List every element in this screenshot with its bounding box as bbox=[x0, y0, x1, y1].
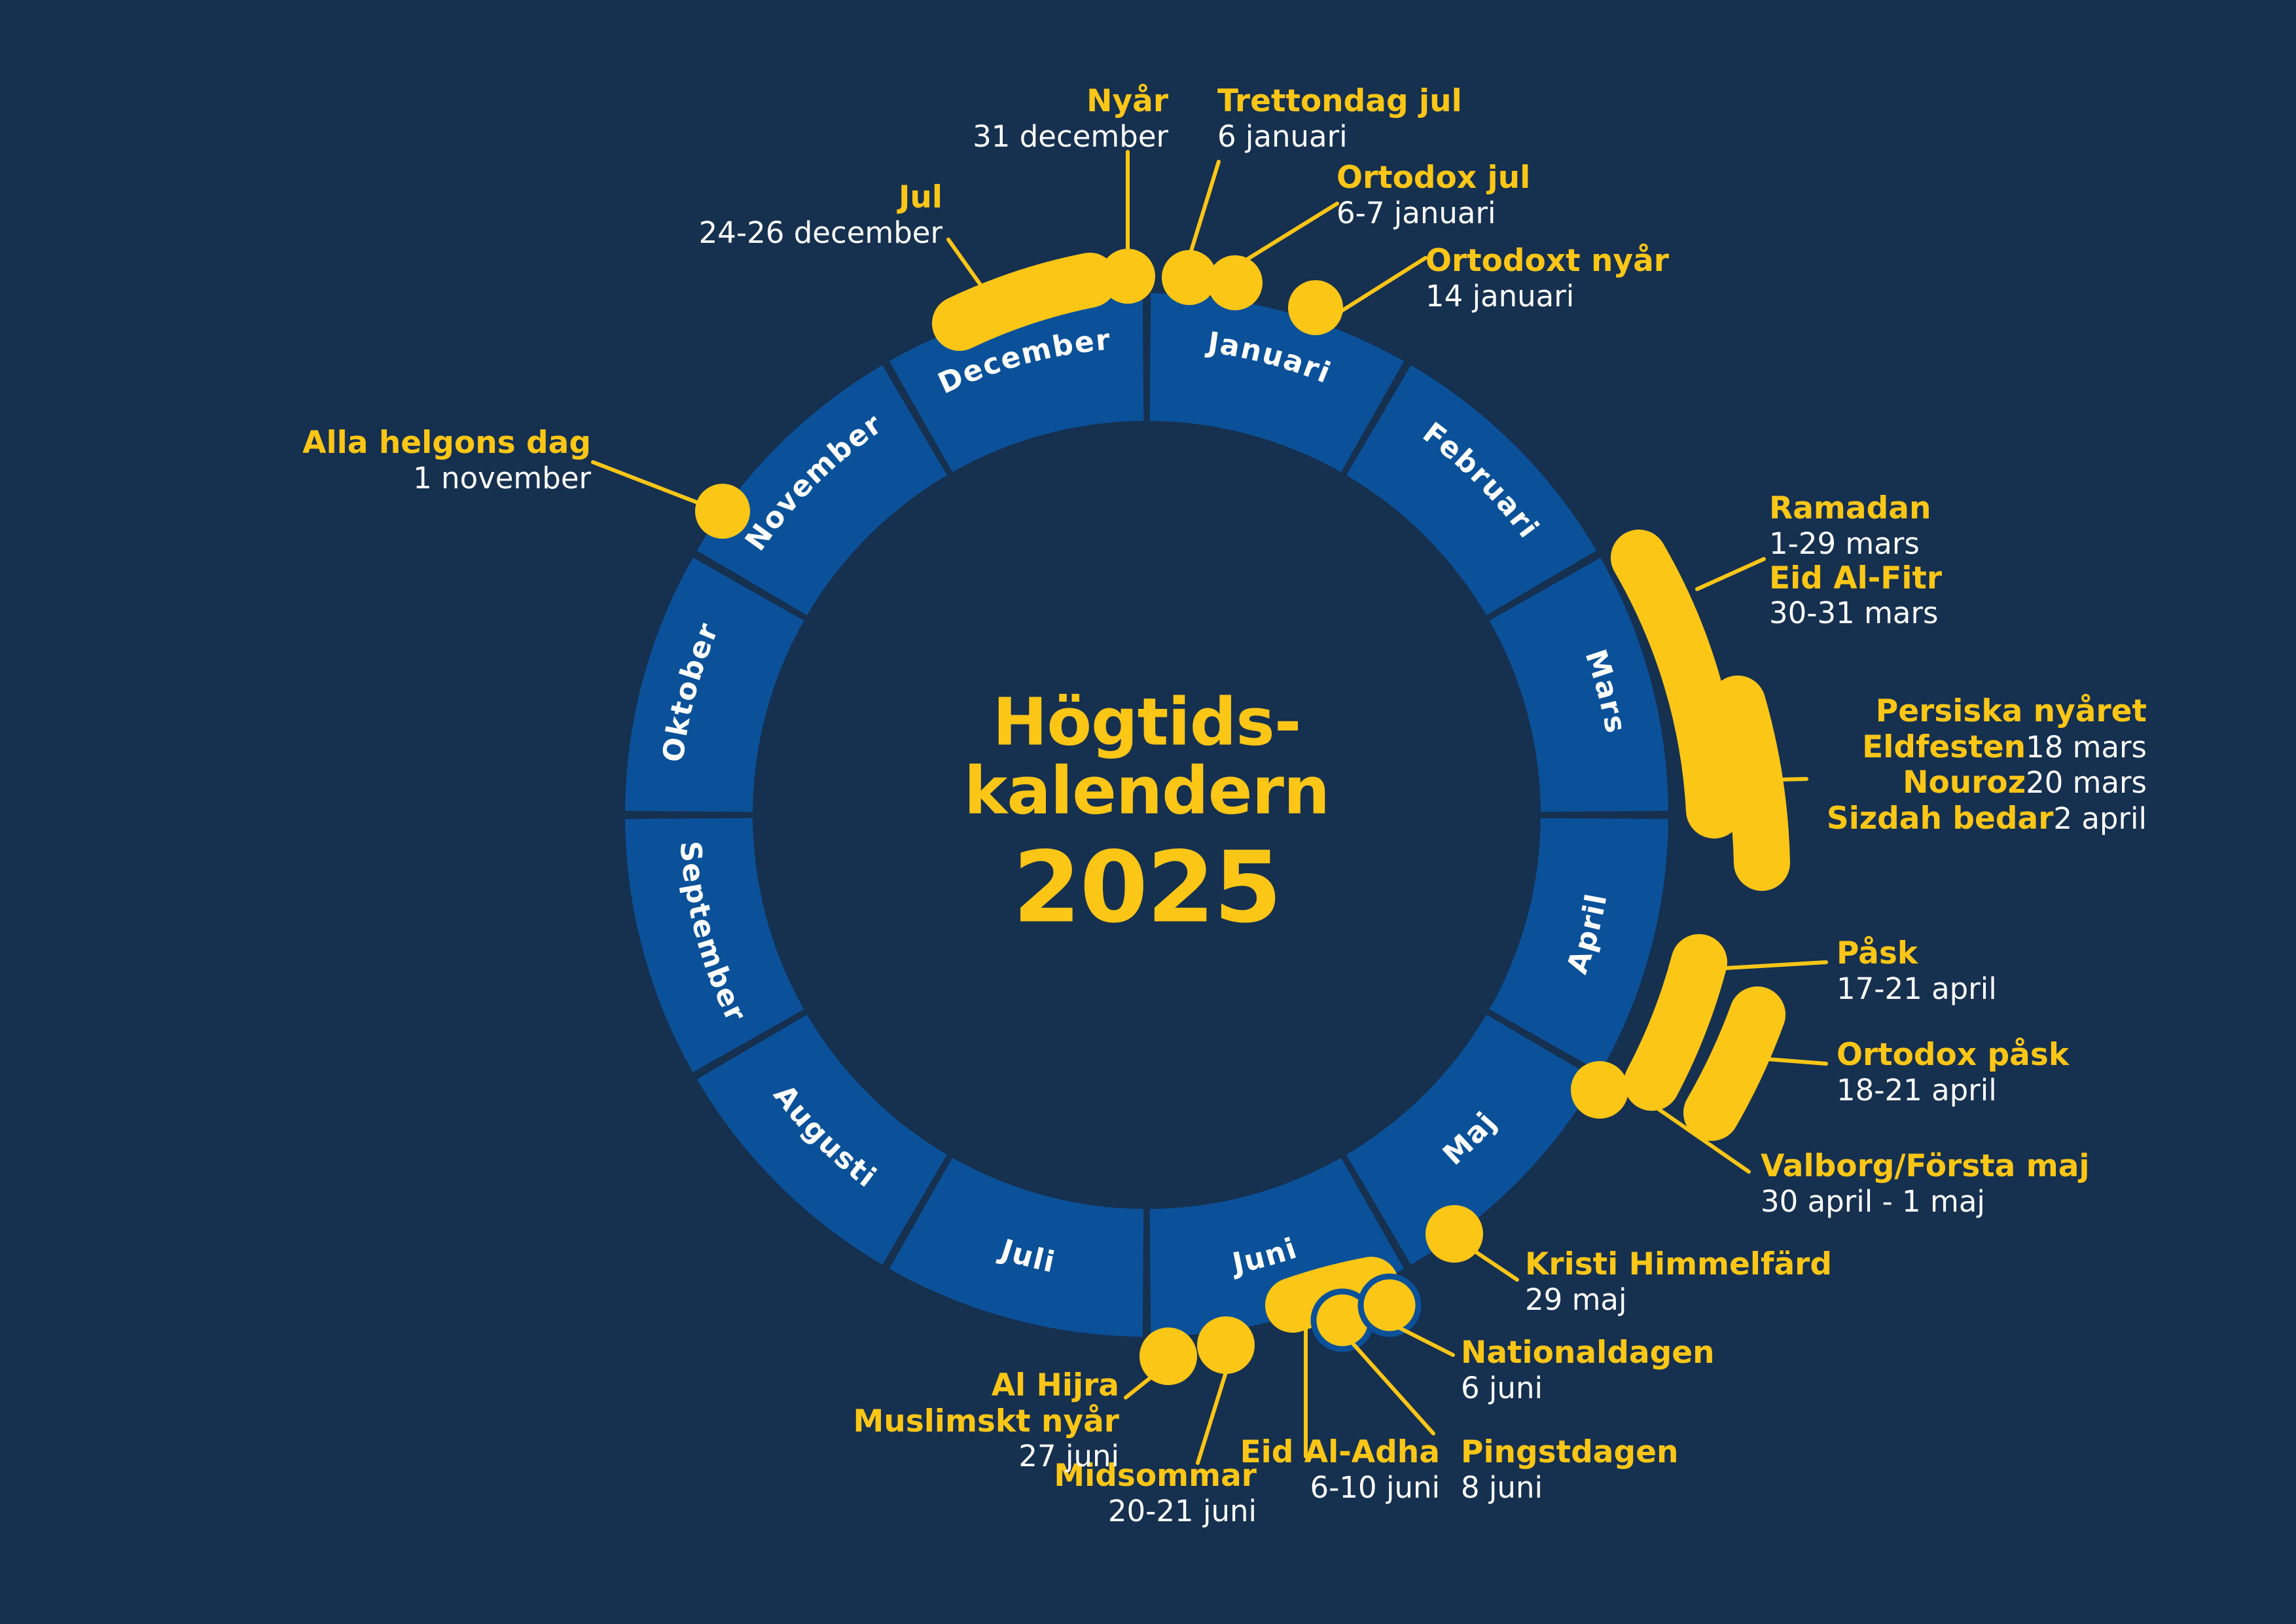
callout-nationaldagen-date: 6 juni bbox=[1461, 1371, 1715, 1405]
marker-nationaldagen[interactable] bbox=[1361, 1276, 1418, 1334]
callout-jul-date: 24-26 december bbox=[699, 216, 942, 250]
callout-ramadan-date: 1-29 mars bbox=[1769, 527, 1942, 561]
callout-ortodox-jul-date: 6-7 januari bbox=[1336, 196, 1530, 230]
page-title: Högtids- kalendern 2025 bbox=[898, 688, 1395, 943]
callout-eldfesten-date: 18 mars bbox=[2026, 730, 2147, 765]
callout-nouroz: Nouroz20 mars bbox=[1827, 765, 2147, 801]
leader-kristi bbox=[1471, 1249, 1517, 1280]
callout-trettondag-jul-date: 6 januari bbox=[1217, 120, 1462, 154]
callout-valborg: Valborg/Första maj 30 april - 1 maj bbox=[1761, 1149, 2090, 1219]
callout-sizdah-bedar: Sizdah bedar2 april bbox=[1827, 801, 2147, 837]
callout-al-hijra-date: 27 juni bbox=[853, 1439, 1119, 1473]
callout-persiska-nyaret-title: Persiska nyåret bbox=[1827, 694, 2147, 730]
marker-nyar[interactable] bbox=[1100, 249, 1155, 304]
callout-pask-date: 17-21 april bbox=[1837, 972, 1997, 1006]
marker-ortodoxt-nyar[interactable] bbox=[1288, 280, 1343, 335]
callout-jul: Jul 24-26 december bbox=[699, 180, 942, 250]
callout-eid-al-fitr-date: 30-31 mars bbox=[1769, 596, 1942, 630]
leader-persiska bbox=[1751, 779, 1806, 780]
callout-nyar: Nyår 31 december bbox=[973, 84, 1168, 154]
marker-valborg[interactable] bbox=[1571, 1061, 1628, 1119]
marker-persiska-nyaret[interactable] bbox=[1738, 704, 1762, 863]
callout-nouroz-date: 20 mars bbox=[2026, 765, 2147, 800]
leader-trettondag-jul bbox=[1191, 162, 1219, 251]
callout-eid-al-fitr-title: Eid Al-Fitr bbox=[1769, 561, 1942, 597]
callout-valborg-date: 30 april - 1 maj bbox=[1761, 1185, 2090, 1219]
infographic-canvas: JanuariFebruariMarsAprilMajJuniJuliAugus… bbox=[0, 0, 2296, 1624]
marker-al-hijra[interactable] bbox=[1139, 1327, 1197, 1385]
callout-al-hijra: Al Hijra Muslimskt nyår 27 juni bbox=[853, 1368, 1119, 1473]
leader-ortodoxt-nyar bbox=[1338, 258, 1426, 313]
callout-ramadan-title: Ramadan bbox=[1769, 491, 1942, 527]
leader-al-hijra bbox=[1126, 1371, 1158, 1398]
callout-kristi-himmelfard: Kristi Himmelfärd 29 maj bbox=[1525, 1247, 1832, 1317]
callout-midsommar-date: 20-21 juni bbox=[1054, 1494, 1257, 1528]
callout-eid-al-adha: Eid Al-Adha 6-10 juni bbox=[1240, 1435, 1440, 1505]
callout-ortodoxt-nyar-date: 14 januari bbox=[1426, 280, 1669, 314]
callout-kristi-himmelfard-date: 29 maj bbox=[1525, 1283, 1832, 1317]
callout-kristi-himmelfard-title: Kristi Himmelfärd bbox=[1525, 1247, 1832, 1283]
callout-eldfesten-title: Eldfesten bbox=[1862, 729, 2026, 765]
leader-pask bbox=[1715, 962, 1826, 969]
callout-nyar-date: 31 december bbox=[973, 120, 1168, 154]
callout-sizdah-bedar-title: Sizdah bedar bbox=[1827, 801, 2054, 837]
callout-eldfesten: Eldfesten18 mars bbox=[1827, 730, 2147, 766]
callout-trettondag-jul-title: Trettondag jul bbox=[1217, 84, 1462, 120]
leader-ramadan bbox=[1697, 559, 1764, 589]
marker-pask[interactable] bbox=[1652, 962, 1699, 1083]
callout-nationaldagen-title: Nationaldagen bbox=[1461, 1335, 1715, 1371]
callout-pingstdagen: Pingstdagen 8 juni bbox=[1461, 1435, 1678, 1505]
callout-pask-title: Påsk bbox=[1837, 936, 1997, 972]
leader-ortodox-jul bbox=[1246, 204, 1337, 260]
callout-nouroz-title: Nouroz bbox=[1903, 765, 2026, 801]
callout-persiska-nyaret: Persiska nyåret Eldfesten18 mars Nouroz2… bbox=[1827, 694, 2147, 837]
callout-ortodox-pask: Ortodox påsk 18-21 april bbox=[1837, 1038, 2069, 1108]
callout-pask: Påsk 17-21 april bbox=[1837, 936, 1997, 1006]
callout-sizdah-bedar-date: 2 april bbox=[2053, 801, 2147, 836]
marker-kristi-himmelfard[interactable] bbox=[1426, 1205, 1483, 1263]
callout-ortodox-pask-title: Ortodox påsk bbox=[1837, 1038, 2069, 1074]
leader-nationaldagen bbox=[1397, 1327, 1453, 1355]
title-year: 2025 bbox=[898, 835, 1395, 943]
callout-trettondag-jul: Trettondag jul 6 januari bbox=[1217, 84, 1462, 154]
marker-alla-helgons-dag[interactable] bbox=[695, 484, 750, 539]
leader-midsommar bbox=[1198, 1368, 1227, 1463]
month-segment-februari[interactable] bbox=[1346, 365, 1596, 615]
marker-ortodox-jul[interactable] bbox=[1208, 255, 1263, 310]
marker-ortodox-pask[interactable] bbox=[1712, 1015, 1757, 1113]
callout-ortodox-jul: Ortodox jul 6-7 januari bbox=[1336, 160, 1530, 230]
callout-alla-helgons-dag-title: Alla helgons dag bbox=[302, 425, 591, 461]
callout-pingstdagen-date: 8 juni bbox=[1461, 1471, 1678, 1505]
callout-pingstdagen-title: Pingstdagen bbox=[1461, 1435, 1678, 1471]
callout-valborg-title: Valborg/Första maj bbox=[1761, 1149, 2090, 1185]
callout-jul-title: Jul bbox=[699, 180, 942, 216]
marker-midsommar[interactable] bbox=[1197, 1316, 1255, 1374]
callout-ortodoxt-nyar: Ortodoxt nyår 14 januari bbox=[1426, 244, 1669, 314]
leader-pingstdagen bbox=[1350, 1340, 1433, 1434]
callout-alla-helgons-dag-date: 1 november bbox=[302, 461, 591, 496]
callout-alla-helgons-dag: Alla helgons dag 1 november bbox=[302, 425, 591, 496]
callout-ortodox-pask-date: 18-21 april bbox=[1837, 1074, 2069, 1108]
callout-ortodox-jul-title: Ortodox jul bbox=[1336, 160, 1530, 196]
callout-ramadan: Ramadan 1-29 mars Eid Al-Fitr 30-31 mars bbox=[1769, 491, 1942, 630]
callout-ortodoxt-nyar-title: Ortodoxt nyår bbox=[1426, 244, 1669, 280]
callout-nationaldagen: Nationaldagen 6 juni bbox=[1461, 1335, 1715, 1405]
callout-al-hijra-title: Al Hijra bbox=[853, 1368, 1119, 1404]
callout-eid-al-adha-date: 6-10 juni bbox=[1240, 1471, 1440, 1505]
callout-al-hijra-title-2: Muslimskt nyår bbox=[853, 1404, 1119, 1440]
callout-eid-al-adha-title: Eid Al-Adha bbox=[1240, 1435, 1440, 1471]
leader-alla-helgons bbox=[593, 462, 703, 505]
title-line-2: kalendern bbox=[898, 757, 1395, 825]
title-line-1: Högtids- bbox=[898, 688, 1395, 757]
callout-nyar-title: Nyår bbox=[973, 84, 1168, 120]
